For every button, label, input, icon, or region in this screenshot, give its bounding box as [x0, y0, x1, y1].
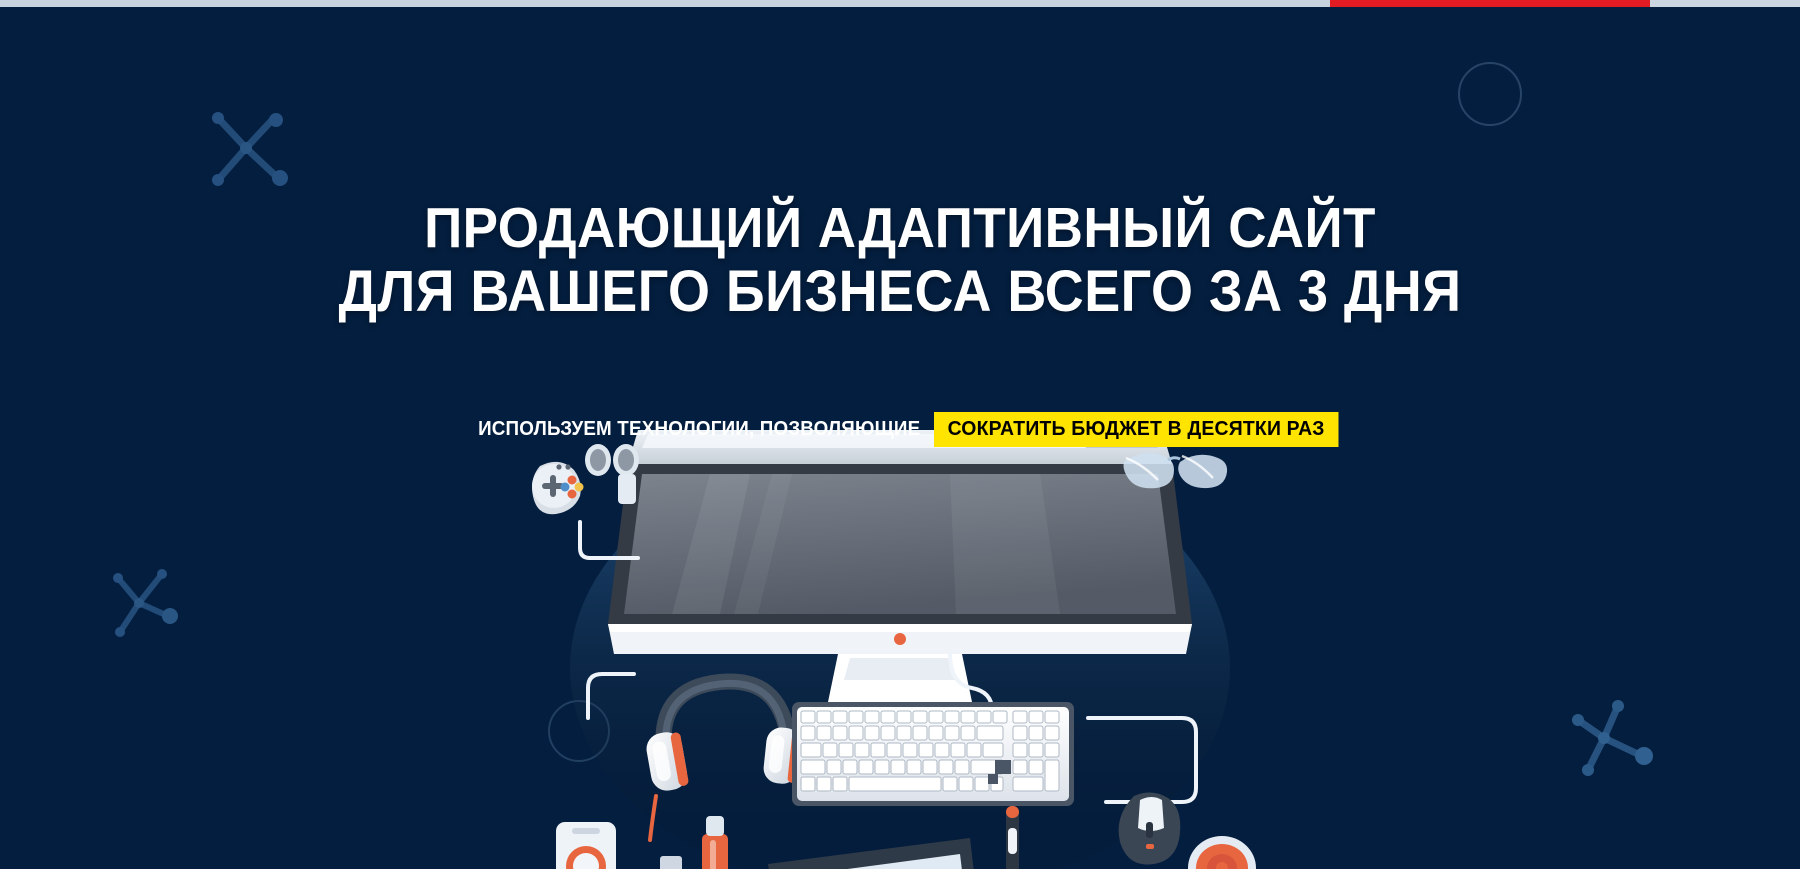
progress-track-left: [0, 0, 1330, 7]
cross-mark-mid-left: [96, 560, 182, 646]
flat-desk-workspace-illustration: [520, 418, 1280, 869]
hero-section: ПРОДАЮЩИЙ АДАПТИВНЫЙ САЙТ ДЛЯ ВАШЕГО БИЗ…: [0, 0, 1800, 869]
speaker: [1188, 836, 1256, 869]
gamepad: [532, 462, 584, 514]
cross-mark-bottom-right: [1560, 688, 1656, 784]
progress-fill: [1330, 0, 1650, 7]
keyboard: [792, 702, 1074, 806]
hero-heading-block: ПРОДАЮЩИЙ АДАПТИВНЫЙ САЙТ ДЛЯ ВАШЕГО БИЗ…: [0, 196, 1800, 324]
stylus-pen: [1006, 806, 1019, 869]
cross-mark-top-left: [198, 100, 294, 196]
page-load-progress-bar: [0, 0, 1800, 7]
computer-mouse: [1119, 792, 1181, 864]
smartphone: [556, 822, 616, 869]
ring-top-right: [1458, 62, 1522, 126]
eyeglasses: [1124, 453, 1228, 488]
notebook: [660, 856, 682, 869]
subtitle-highlight-badge: СОКРАТИТЬ БЮДЖЕТ В ДЕСЯТКИ РАЗ: [934, 412, 1338, 447]
subtitle-plain-text: ИСПОЛЬЗУЕМ ТЕХНОЛОГИИ, ПОЗВОЛЯЮЩИЕ: [478, 418, 933, 441]
desk-accessory-pucks: [585, 444, 639, 504]
hero-subtitle-row: ИСПОЛЬЗУЕМ ТЕХНОЛОГИИ, ПОЗВОЛЯЮЩИЕ СОКРА…: [0, 412, 1800, 447]
headline-line-2: ДЛЯ ВАШЕГО БИЗНЕСА ВСЕГО ЗА 3 ДНЯ: [63, 260, 1737, 324]
headline-line-1: ПРОДАЮЩИЙ АДАПТИВНЫЙ САЙТ: [63, 196, 1737, 260]
progress-track-right: [1650, 0, 1800, 7]
